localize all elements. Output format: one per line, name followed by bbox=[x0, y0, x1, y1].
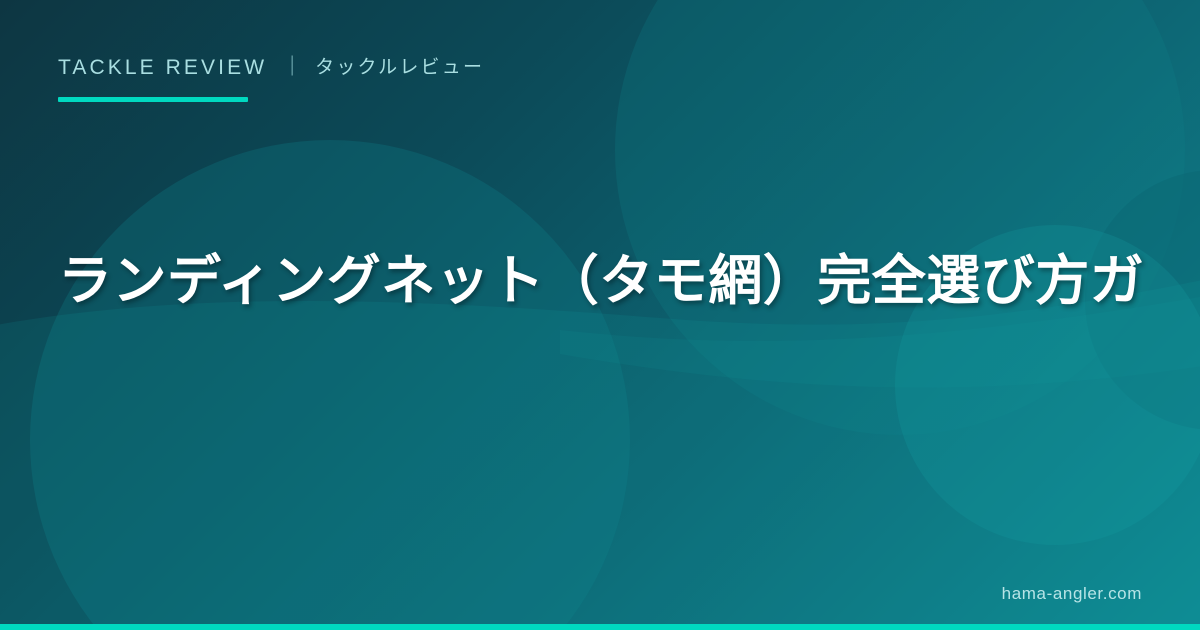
site-url-label: hama-angler.com bbox=[1002, 584, 1142, 604]
category-eyebrow: TACKLE REVIEW ｜ タックルレビュー bbox=[58, 52, 484, 82]
bottom-accent-bar bbox=[0, 624, 1200, 630]
page-title: ランディングネット（タモ網）完全選び方ガ bbox=[58, 248, 1148, 316]
category-separator: ｜ bbox=[282, 57, 302, 77]
accent-underline-bar bbox=[58, 97, 248, 102]
category-label-en: TACKLE REVIEW bbox=[58, 57, 267, 78]
circle-upper-left-shape bbox=[30, 140, 630, 630]
circle-top-right-shape bbox=[615, 0, 1185, 435]
og-card: TACKLE REVIEW ｜ タックルレビュー ランディングネット（タモ網）完… bbox=[0, 0, 1200, 630]
wave-sweep-shape bbox=[0, 272, 1200, 630]
category-label-ja: タックルレビュー bbox=[315, 58, 484, 77]
title-block: ランディングネット（タモ網）完全選び方ガ bbox=[58, 248, 1148, 316]
header-block: TACKLE REVIEW ｜ タックルレビュー bbox=[58, 52, 484, 102]
